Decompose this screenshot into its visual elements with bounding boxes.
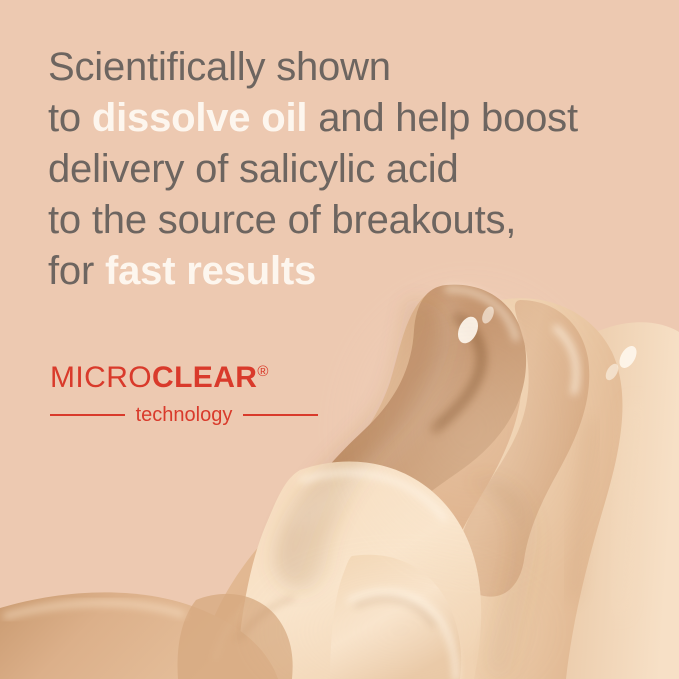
headline-segment: to the source of breakouts, [48, 198, 516, 242]
brand-tagline-row: technology [50, 404, 318, 426]
brand-tagline: technology [125, 404, 244, 426]
microclear-brand-lockup: MICROCLEAR® technology [50, 355, 330, 426]
headline-segment: for [48, 249, 105, 293]
headline-line-3: delivery of salicylic acid [48, 144, 648, 195]
wordmark-clear: CLEAR [152, 361, 257, 394]
headline-emphasis-fast-results: fast results [105, 249, 316, 293]
headline-line-1: Scientifically shown [48, 42, 648, 93]
microclear-wordmark: MICROCLEAR® [50, 355, 330, 395]
headline-segment: and help boost [307, 96, 578, 140]
registered-trademark-icon: ® [257, 363, 268, 380]
tagline-rule-right [243, 414, 318, 416]
headline-line-4: to the source of breakouts, [48, 195, 648, 246]
headline-emphasis-dissolve-oil: dissolve oil [92, 96, 307, 140]
headline-segment: to [48, 96, 92, 140]
headline-segment: delivery of salicylic acid [48, 147, 459, 191]
headline-segment: Scientifically shown [48, 45, 391, 89]
headline-line-5: for fast results [48, 246, 648, 297]
tagline-rule-left [50, 414, 125, 416]
headline-line-2: to dissolve oil and help boost [48, 93, 648, 144]
wordmark-micro: MICRO [50, 361, 152, 394]
headline-text: Scientifically shown to dissolve oil and… [48, 42, 648, 297]
advertisement-canvas: Scientifically shown to dissolve oil and… [0, 0, 679, 679]
